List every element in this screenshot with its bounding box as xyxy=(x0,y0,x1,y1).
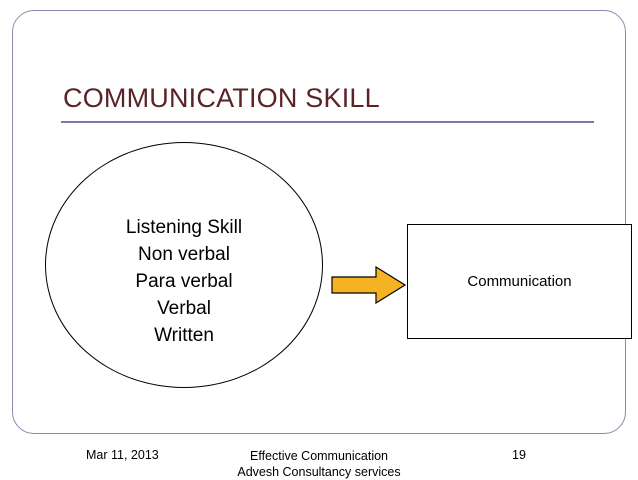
footer-line-2: Advesh Consultancy services xyxy=(0,464,638,480)
communication-box-label: Communication xyxy=(407,273,632,290)
title-divider xyxy=(61,121,594,123)
slide-canvas: COMMUNICATION SKILL Listening Skill Non … xyxy=(12,10,626,434)
slide-footer: Mar 11, 2013 Effective Communication Adv… xyxy=(0,448,638,479)
skills-ellipse-text: Listening Skill Non verbal Para verbal V… xyxy=(45,214,323,349)
footer-line-1: Effective Communication xyxy=(0,448,638,464)
footer-page-number: 19 xyxy=(512,448,526,462)
page-title: COMMUNICATION SKILL xyxy=(63,83,380,114)
footer-center: Effective Communication Advesh Consultan… xyxy=(0,448,638,480)
right-arrow-icon xyxy=(331,266,407,304)
